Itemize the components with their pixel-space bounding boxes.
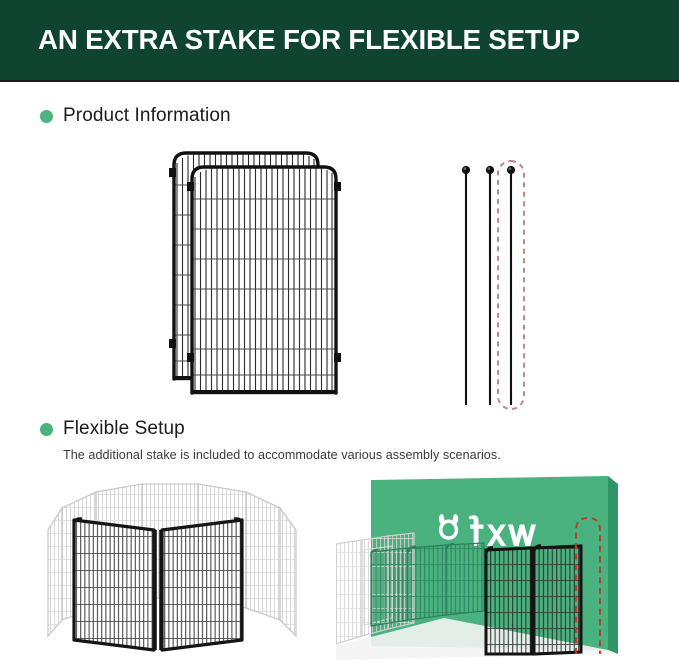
stake-3-extra-highlighted <box>498 161 524 409</box>
connector-clip <box>334 182 341 191</box>
section-title-flexible-setup: Flexible Setup <box>63 418 185 440</box>
section-title-product-information: Product Information <box>63 105 231 127</box>
front-panel <box>187 167 341 394</box>
product-infographic-page: AN EXTRA STAKE FOR FLEXIBLE SETUP Produc… <box>0 0 679 664</box>
wire-mesh-fence-panels-illustration <box>160 143 370 408</box>
section-subtitle-flexible-setup: The additional stake is included to acco… <box>63 448 501 462</box>
connector-clip <box>169 339 176 348</box>
wall-side <box>608 476 618 654</box>
bullet-dot-icon <box>40 423 53 436</box>
connector-clip <box>187 182 194 191</box>
page-title: AN EXTRA STAKE FOR FLEXIBLE SETUP <box>38 24 580 56</box>
connector-clip <box>187 353 194 362</box>
ground-stakes-illustration <box>440 155 550 415</box>
connector-clip <box>169 168 176 177</box>
bullet-dot-icon <box>40 110 53 123</box>
highlighted-fence-panels <box>486 546 581 654</box>
stake-1 <box>462 166 470 405</box>
page-header-banner: AN EXTRA STAKE FOR FLEXIBLE SETUP <box>0 0 679 82</box>
section-heading-product-information: Product Information <box>40 105 231 127</box>
octagonal-playpen-illustration <box>38 468 320 658</box>
fence-against-wall-illustration <box>336 468 666 660</box>
section-heading-flexible-setup: Flexible Setup <box>40 418 185 440</box>
stake-2 <box>486 166 494 405</box>
connector-clip <box>334 353 341 362</box>
